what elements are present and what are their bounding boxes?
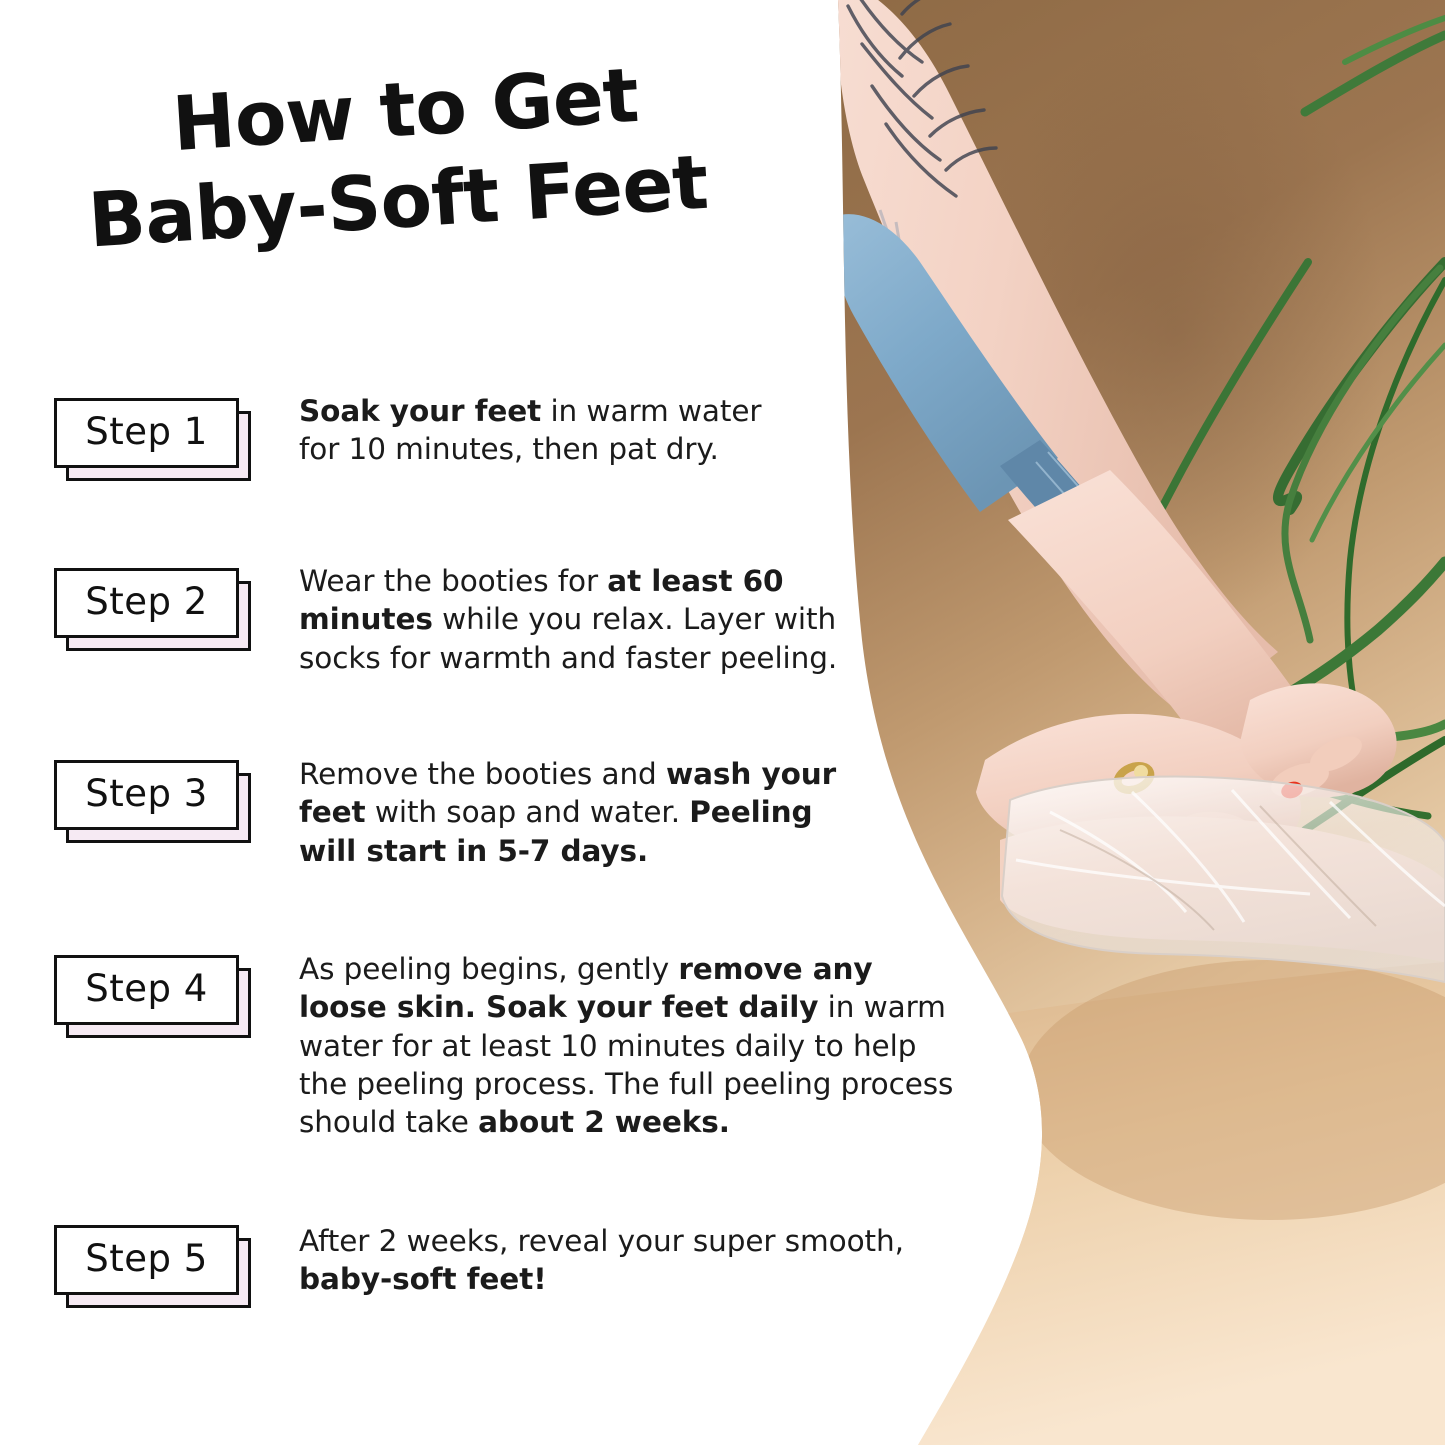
step-text-emphasis: about 2 weeks. [478, 1105, 730, 1139]
step-text-5: After 2 weeks, reveal your super smooth,… [299, 1222, 949, 1299]
step-text-plain: Wear the booties for [299, 564, 607, 598]
step-text-4: As peeling begins, gently remove any loo… [299, 950, 969, 1142]
step-badge-front: Step 5 [54, 1225, 239, 1295]
step-text-3: Remove the booties and wash your feet wi… [299, 755, 879, 870]
step-text-plain: As peeling begins, gently [299, 952, 678, 986]
infographic-page: How to Get Baby-Soft Feet Step 1Soak you… [0, 0, 1445, 1445]
step-badge-2: Step 2 [54, 568, 254, 652]
step-badge-label: Step 1 [85, 413, 208, 450]
step-badge-label: Step 3 [85, 775, 208, 812]
step-text-plain: with soap and water. [366, 795, 690, 829]
step-badge-front: Step 2 [54, 568, 239, 638]
step-text-emphasis: Soak your feet [299, 394, 541, 428]
step-badge-label: Step 5 [85, 1240, 208, 1277]
step-badge-front: Step 1 [54, 398, 239, 468]
step-text-plain: After 2 weeks, reveal your super smooth, [299, 1224, 904, 1258]
step-badge-front: Step 4 [54, 955, 239, 1025]
step-badge-1: Step 1 [54, 398, 254, 482]
step-text-plain: Remove the booties and [299, 757, 666, 791]
step-badge-3: Step 3 [54, 760, 254, 844]
step-badge-label: Step 2 [85, 583, 208, 620]
step-badge-label: Step 4 [85, 970, 208, 1007]
step-badge-front: Step 3 [54, 760, 239, 830]
step-badge-5: Step 5 [54, 1225, 254, 1309]
step-text-1: Soak your feet in warm water for 10 minu… [299, 392, 769, 469]
step-badge-4: Step 4 [54, 955, 254, 1039]
step-text-2: Wear the booties for at least 60 minutes… [299, 562, 859, 677]
step-text-emphasis: baby-soft feet! [299, 1262, 547, 1296]
